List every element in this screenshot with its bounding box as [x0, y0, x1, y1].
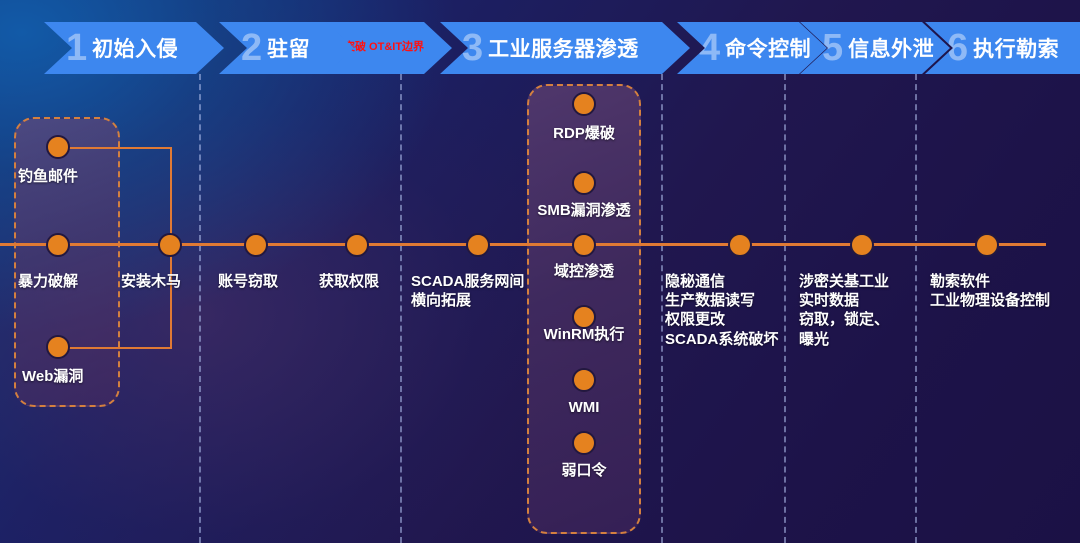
node-wmi[interactable]: [572, 368, 596, 392]
node-data-exfiltration[interactable]: [850, 233, 874, 257]
phase-2-number: 2: [241, 29, 262, 67]
node-account-theft[interactable]: [244, 233, 268, 257]
node-privilege-escalation[interactable]: [345, 233, 369, 257]
connector-web-horizontal: [58, 347, 172, 349]
node-rdp-bruteforce[interactable]: [572, 92, 596, 116]
label-account-theft: 账号窃取: [218, 272, 318, 291]
label-smb-exploit: SMB漏洞渗透: [524, 201, 644, 220]
connector-phishing-horizontal: [58, 147, 172, 149]
label-brute-force: 暴力破解: [18, 272, 114, 291]
node-domain-controller-penetration[interactable]: [572, 233, 596, 257]
label-privilege-escalation: 获取权限: [319, 272, 419, 291]
node-command-control[interactable]: [728, 233, 752, 257]
initial-intrusion-group-box: [14, 117, 120, 407]
label-rdp-bruteforce: RDP爆破: [524, 124, 644, 143]
phase-4-number: 4: [699, 29, 720, 67]
diagram-canvas: 1 初始入侵 2 驻留 突破 OT&IT边界 3 工业服务器渗透 4 命令控制 …: [0, 0, 1080, 543]
node-weak-password[interactable]: [572, 431, 596, 455]
attack-chain-line: [0, 243, 1046, 246]
node-scada-lateral-movement[interactable]: [466, 233, 490, 257]
phase-1-label: 初始入侵: [92, 33, 178, 63]
label-command-control: 隐秘通信 生产数据读写 权限更改 SCADA系统破坏: [665, 272, 795, 349]
node-ransomware-execution[interactable]: [975, 233, 999, 257]
node-smb-exploit[interactable]: [572, 171, 596, 195]
label-ransomware-execution: 勒索软件 工业物理设备控制: [930, 272, 1080, 310]
label-web-vulnerability: Web漏洞: [22, 367, 118, 386]
column-separator-2: [400, 74, 402, 543]
phase-3-number: 3: [462, 29, 483, 67]
label-winrm-execution: WinRM执行: [524, 325, 644, 344]
label-data-exfiltration: 涉密关基工业 实时数据 窃取，锁定、 曝光: [799, 272, 919, 349]
phase-6-label: 执行勒索: [973, 33, 1059, 63]
phase-5-label: 信息外泄: [848, 33, 934, 63]
phase-6-number: 6: [947, 29, 968, 67]
phase-1[interactable]: 1 初始入侵: [44, 22, 224, 74]
phase-4[interactable]: 4 命令控制: [677, 22, 827, 74]
phase-2-label: 驻留: [267, 33, 310, 63]
phase-3[interactable]: 3 工业服务器渗透: [440, 22, 690, 74]
label-domain-controller-penetration: 域控渗透: [524, 262, 644, 281]
column-separator-1: [199, 74, 201, 543]
label-weak-password: 弱口令: [524, 461, 644, 480]
label-install-trojan: 安装木马: [121, 272, 221, 291]
column-separator-3: [661, 74, 663, 543]
node-install-trojan[interactable]: [158, 233, 182, 257]
phase-3-label: 工业服务器渗透: [488, 33, 639, 63]
node-brute-force[interactable]: [46, 233, 70, 257]
node-phishing-email[interactable]: [46, 135, 70, 159]
label-scada-lateral-movement: SCADA服务网间 横向拓展: [411, 272, 535, 310]
phase-band: 1 初始入侵 2 驻留 突破 OT&IT边界 3 工业服务器渗透 4 命令控制 …: [0, 22, 1080, 74]
node-web-vulnerability[interactable]: [46, 335, 70, 359]
phase-1-number: 1: [66, 29, 87, 67]
label-wmi: WMI: [524, 398, 644, 417]
label-phishing-email: 钓鱼邮件: [18, 167, 114, 186]
phase-4-label: 命令控制: [725, 33, 811, 63]
